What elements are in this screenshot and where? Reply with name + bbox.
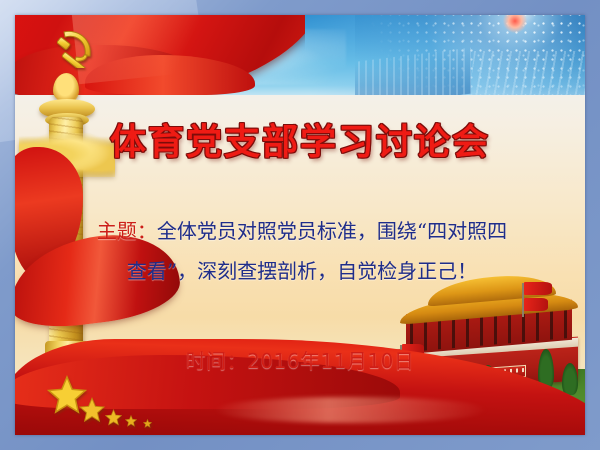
red-flag-right-2	[524, 298, 548, 311]
great-hall-ceiling-icon	[355, 15, 585, 95]
subtitle-line-2: 查看”，深刻查摆剖析，自觉检身正己！	[43, 251, 561, 291]
gold-star-3	[105, 409, 122, 426]
presentation-slide: 体育党支部学习讨论会 主题：全体党员对照党员标准，围绕“四对照四 查看”，深刻查…	[0, 0, 600, 450]
subtitle-block: 主题：全体党员对照党员标准，围绕“四对照四 查看”，深刻查摆剖析，自觉检身正己！	[43, 211, 561, 291]
date-text: 时间：2016年11月10日	[15, 345, 585, 374]
subtitle-line-1: 全体党员对照党员标准，围绕“四对照四	[157, 219, 507, 243]
gold-star-5	[143, 419, 152, 428]
hall-colonnade	[468, 51, 585, 95]
ribbon-gloss	[214, 397, 487, 423]
slide-canvas: 体育党支部学习讨论会 主题：全体党员对照党员标准，围绕“四对照四 查看”，深刻查…	[15, 15, 585, 435]
gold-star-2	[79, 397, 105, 423]
page-title: 体育党支部学习讨论会	[15, 113, 585, 165]
hammer-and-sickle-icon	[57, 26, 101, 68]
ceiling-star-icon	[503, 15, 527, 33]
subtitle-label: 主题：	[97, 219, 157, 243]
gold-star-4	[125, 415, 137, 427]
